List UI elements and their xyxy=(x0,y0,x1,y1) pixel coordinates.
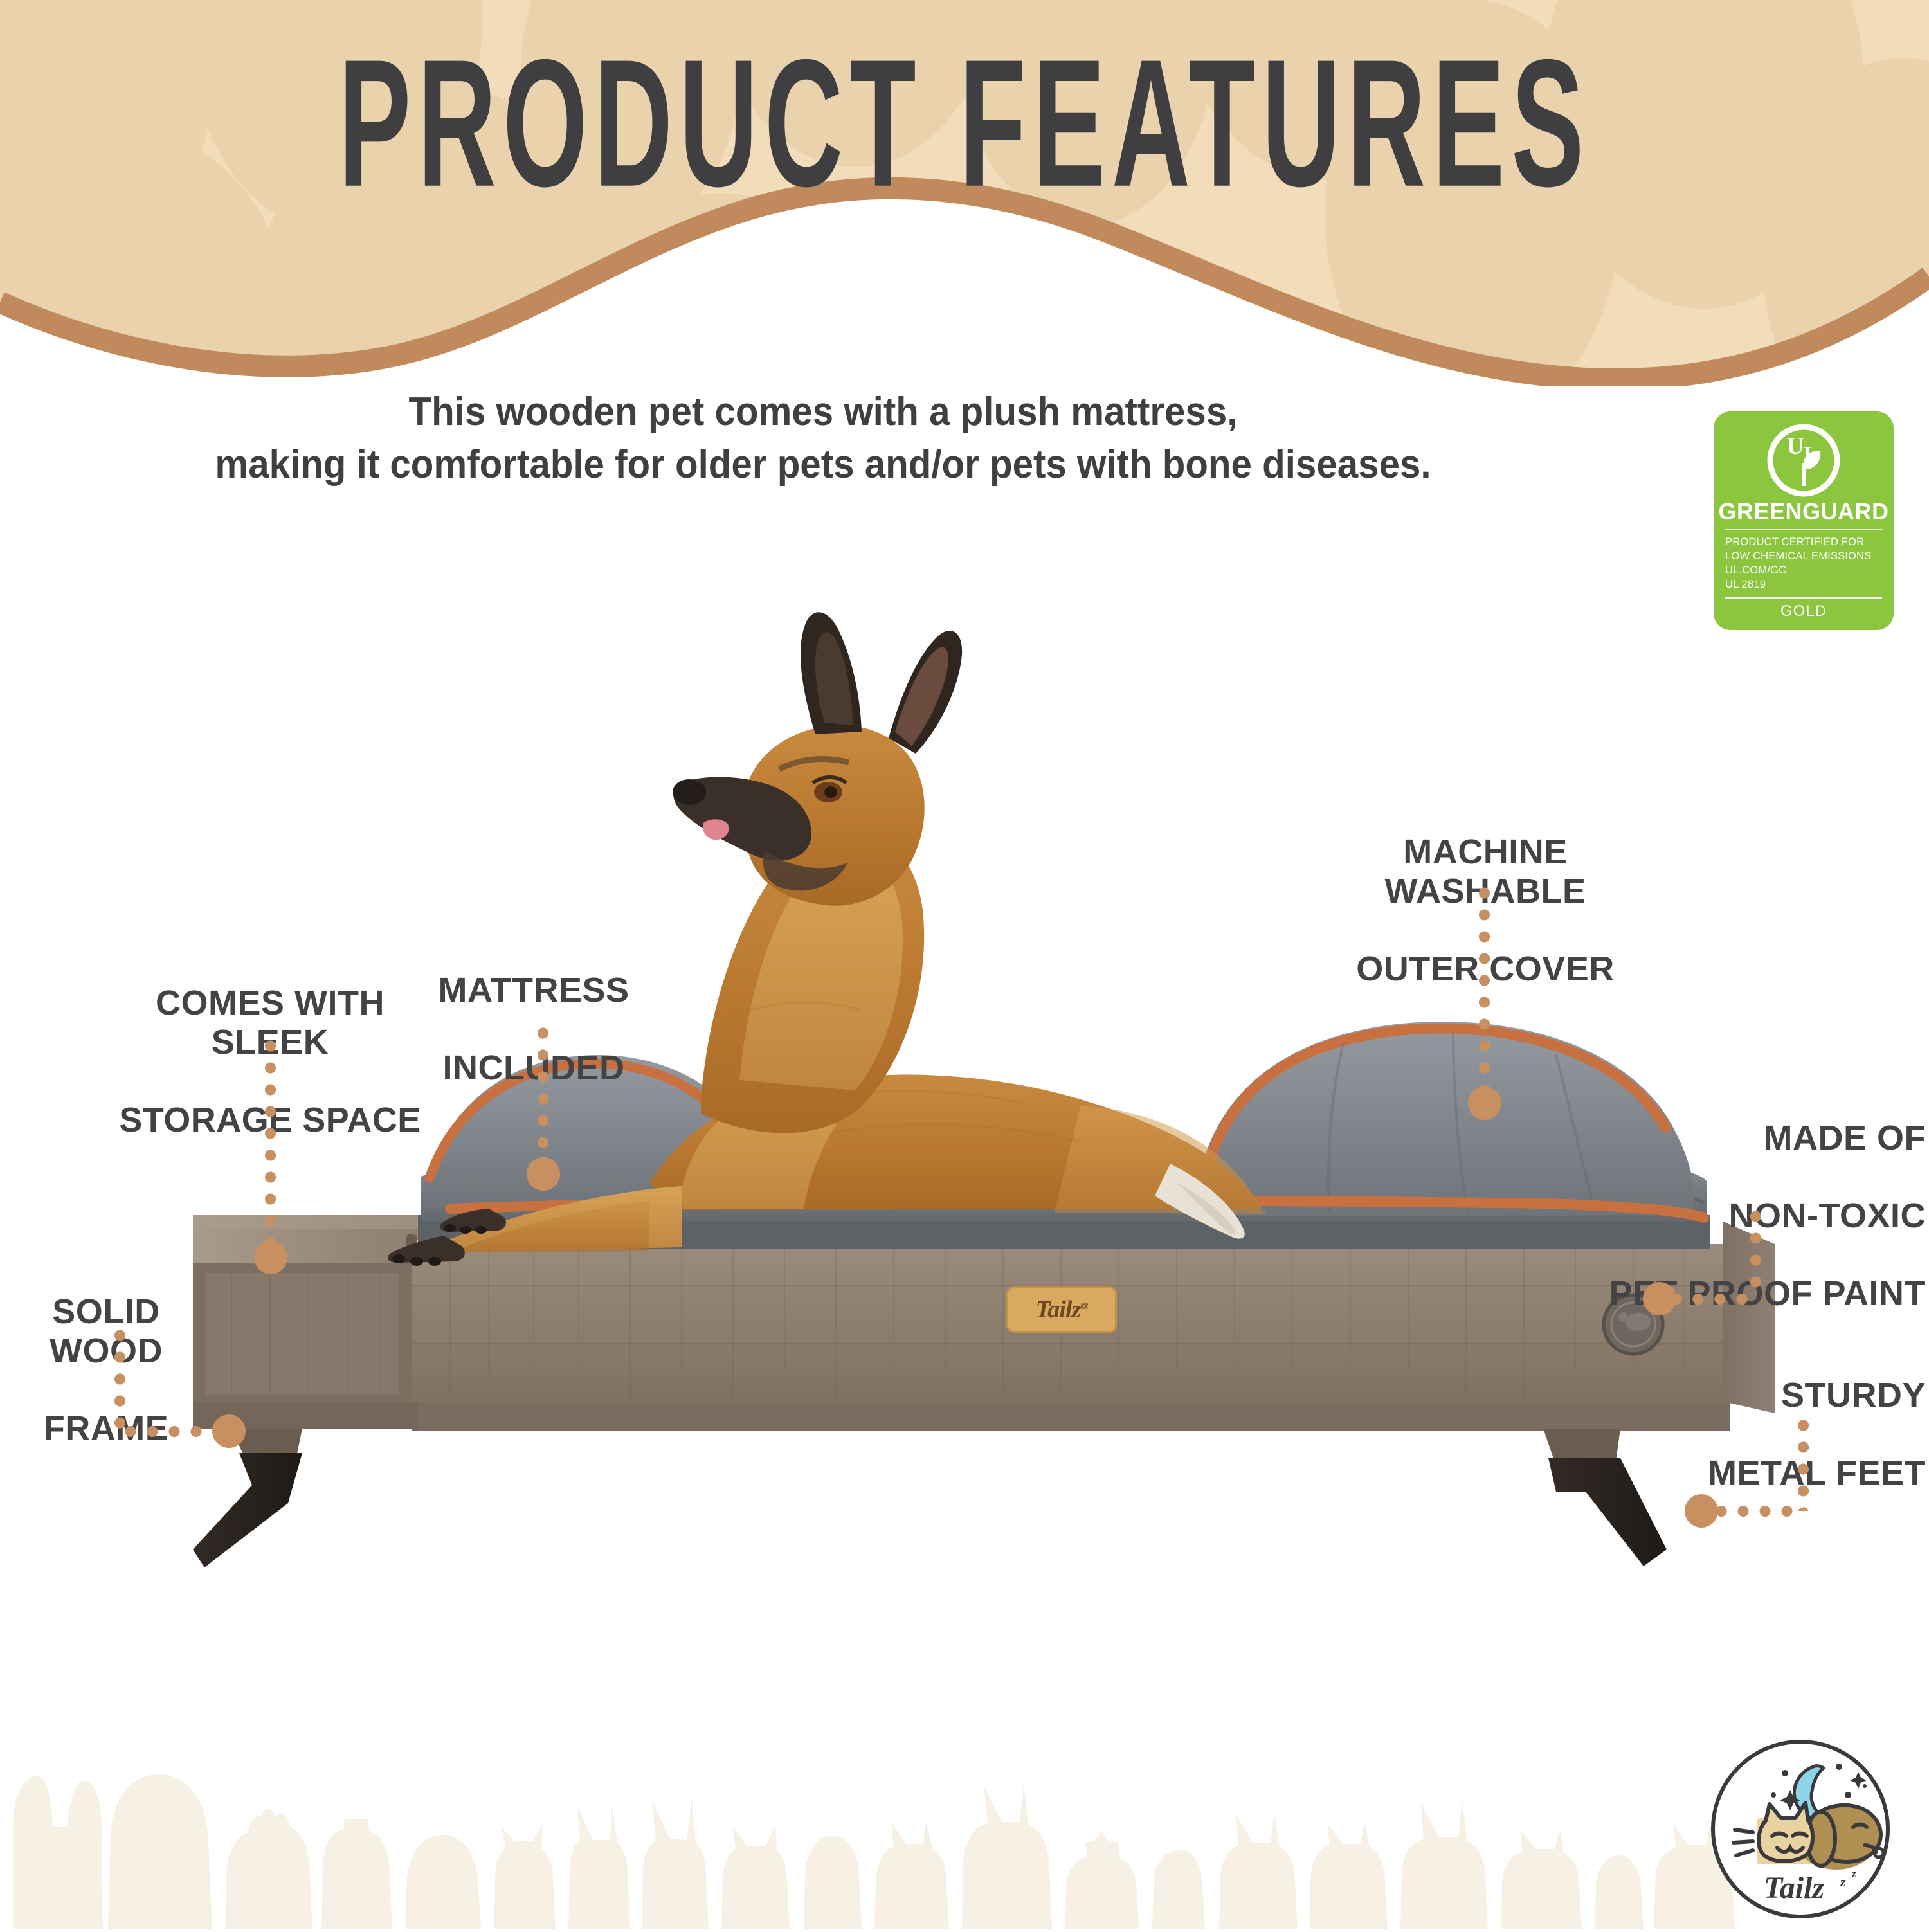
connector-dot-machine-washable xyxy=(1468,1087,1501,1120)
connector-solid-wood-vertical xyxy=(114,1324,125,1431)
brand-wordmark: Tailz xyxy=(1764,1871,1825,1905)
page-title: PRODUCT FEATURES xyxy=(68,32,1861,213)
connector-dot-mattress-included xyxy=(527,1157,560,1191)
connector-metal-feet-horizontal xyxy=(1710,1506,1804,1517)
greenguard-name: GREENGUARD xyxy=(1714,500,1894,523)
connector-metal-feet-vertical xyxy=(1798,1414,1809,1511)
connector-storage-space xyxy=(265,1035,276,1250)
connector-dot-storage-space xyxy=(254,1241,287,1274)
connector-solid-wood-horizontal xyxy=(120,1426,222,1437)
cert-line-2: LOW CHEMICAL EMISSIONS xyxy=(1725,550,1882,564)
subtitle-line-2: making it comfortable for older pets and… xyxy=(50,438,1597,491)
feature-label-solid-wood-frame: SOLID WOOD FRAME xyxy=(0,1254,212,1487)
svg-text:U: U xyxy=(1786,433,1804,460)
connector-dot-sturdy-metal-feet xyxy=(1685,1494,1718,1528)
connector-dot-non-toxic-paint xyxy=(1643,1282,1676,1315)
connector-non-toxic-horizontal xyxy=(1665,1294,1755,1305)
subtitle-line-1: This wooden pet comes with a plush mattr… xyxy=(50,386,1597,438)
feature-label-mattress-included: MATTRESS INCLUDED xyxy=(399,932,669,1126)
connector-machine-washable xyxy=(1479,882,1490,1097)
tailz-tag-sup: zz xyxy=(1080,1299,1087,1311)
pet-silhouette-band xyxy=(0,1717,1929,1929)
svg-text:z: z xyxy=(1851,1868,1856,1880)
mattress-line-2: INCLUDED xyxy=(399,1049,669,1087)
metal-feet-line-1: STURDY xyxy=(1607,1376,1926,1414)
feature-label-sturdy-metal-feet: STURDY METAL FEET xyxy=(1607,1337,1926,1531)
non-toxic-line-1: MADE OF xyxy=(1575,1119,1926,1157)
badge-divider-top xyxy=(1725,529,1882,530)
solid-wood-line-1: SOLID WOOD xyxy=(0,1292,212,1370)
connector-non-toxic-vertical xyxy=(1750,1205,1761,1299)
metal-feet-line-2: METAL FEET xyxy=(1607,1454,1926,1492)
cert-line-1: PRODUCT CERTIFIED FOR xyxy=(1725,536,1882,550)
tailz-product-tag: Tailzzz xyxy=(1006,1286,1117,1333)
svg-text:z: z xyxy=(1840,1873,1846,1890)
connector-dot-solid-wood-frame xyxy=(212,1414,246,1448)
header-banner: PRODUCT FEATURES xyxy=(0,0,1929,386)
mattress-line-1: MATTRESS xyxy=(399,971,669,1009)
tailz-tag-text: Tailz xyxy=(1036,1296,1081,1323)
brand-logo-tailz: Tailz z z xyxy=(1704,1736,1897,1922)
ul-leaf-icon: U L xyxy=(1766,423,1841,498)
subtitle-block: This wooden pet comes with a plush mattr… xyxy=(50,386,1597,491)
connector-mattress-included xyxy=(538,1022,548,1167)
infographic-canvas: PRODUCT FEATURES This wooden pet comes w… xyxy=(0,0,1929,1929)
